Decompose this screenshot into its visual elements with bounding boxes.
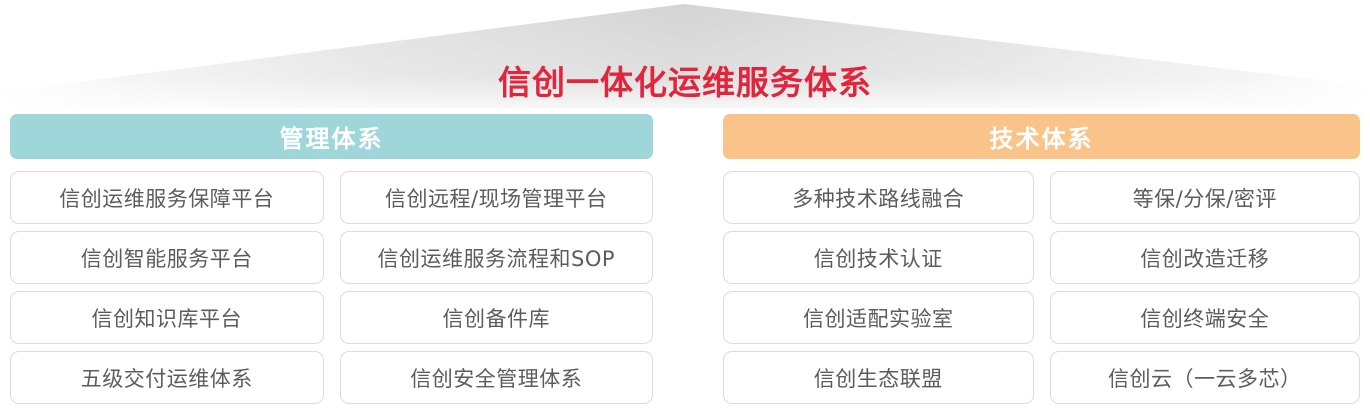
card-item[interactable]: 等保/分保/密评: [1050, 171, 1361, 224]
card-item[interactable]: 信创云（一云多芯）: [1050, 351, 1361, 404]
card-item[interactable]: 信创知识库平台: [10, 291, 324, 344]
group-header-technology: 技术体系: [723, 114, 1360, 159]
card-item[interactable]: 信创生态联盟: [723, 351, 1034, 404]
group-management: 管理体系 信创运维服务保障平台 信创远程/现场管理平台 信创智能服务平台 信创运…: [10, 114, 653, 404]
card-item[interactable]: 多种技术路线融合: [723, 171, 1034, 224]
card-item[interactable]: 信创安全管理体系: [340, 351, 654, 404]
card-grid-technology: 多种技术路线融合 等保/分保/密评 信创技术认证 信创改造迁移 信创适配实验室 …: [723, 171, 1360, 404]
group-header-management: 管理体系: [10, 114, 653, 159]
card-item[interactable]: 五级交付运维体系: [10, 351, 324, 404]
infographic-canvas: 信创一体化运维服务体系 管理体系 信创运维服务保障平台 信创远程/现场管理平台 …: [0, 0, 1370, 418]
card-item[interactable]: 信创备件库: [340, 291, 654, 344]
card-item[interactable]: 信创适配实验室: [723, 291, 1034, 344]
card-item[interactable]: 信创远程/现场管理平台: [340, 171, 654, 224]
group-technology: 技术体系 多种技术路线融合 等保/分保/密评 信创技术认证 信创改造迁移 信创适…: [723, 114, 1360, 404]
card-item[interactable]: 信创运维服务保障平台: [10, 171, 324, 224]
card-item[interactable]: 信创终端安全: [1050, 291, 1361, 344]
page-title: 信创一体化运维服务体系: [0, 56, 1370, 104]
card-item[interactable]: 信创技术认证: [723, 231, 1034, 284]
card-item[interactable]: 信创运维服务流程和SOP: [340, 231, 654, 284]
card-item[interactable]: 信创智能服务平台: [10, 231, 324, 284]
card-grid-management: 信创运维服务保障平台 信创远程/现场管理平台 信创智能服务平台 信创运维服务流程…: [10, 171, 653, 404]
card-item[interactable]: 信创改造迁移: [1050, 231, 1361, 284]
